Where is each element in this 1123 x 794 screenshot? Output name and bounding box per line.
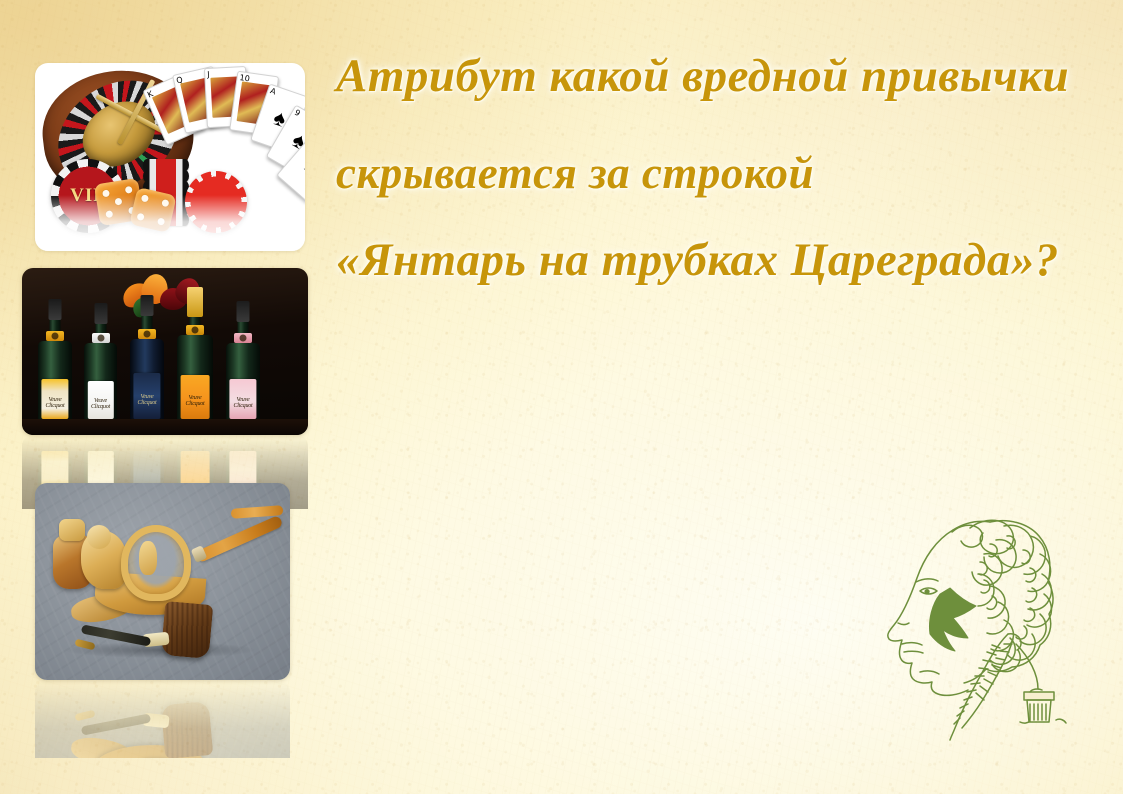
gambling-photo-frame: K♠ Q♠ J♠ 10♠ A♠ 9♠ 8♠ VIP bbox=[35, 63, 305, 251]
bottle-brand: Veuve Clicquot bbox=[181, 395, 210, 407]
pipe-photo-reflection bbox=[35, 680, 290, 758]
carved-cherub bbox=[139, 541, 157, 575]
bottle-brand: Veuve Clicquot bbox=[133, 394, 160, 406]
bottle-label: Veuve Clicquot bbox=[133, 373, 160, 419]
casino-scene: K♠ Q♠ J♠ 10♠ A♠ 9♠ 8♠ VIP bbox=[35, 63, 305, 251]
bottle-label: Veuve Clicquot bbox=[87, 381, 113, 419]
card-rank: J bbox=[207, 71, 210, 79]
card-suit-pip: ♠ bbox=[300, 154, 305, 178]
image-gambling[interactable]: K♠ Q♠ J♠ 10♠ A♠ 9♠ 8♠ VIP bbox=[35, 63, 305, 251]
slide-canvas: K♠ Q♠ J♠ 10♠ A♠ 9♠ 8♠ VIP bbox=[0, 0, 1123, 794]
card-rank: 9 bbox=[293, 109, 301, 118]
bottle-label: Veuve Clicquot bbox=[181, 375, 210, 419]
champagne-bottle: Veuve Clicquot bbox=[130, 295, 164, 427]
image-champagne[interactable]: Veuve Clicquot Veuve Clicquot Veuve Clic… bbox=[22, 268, 308, 435]
carved-figure-head bbox=[87, 525, 111, 549]
question-line-2: скрывается за строкой bbox=[336, 150, 1096, 198]
question-text-block: Атрибут какой вредной привычки скрываетс… bbox=[336, 52, 1096, 285]
champagne-photo-frame: Veuve Clicquot Veuve Clicquot Veuve Clic… bbox=[22, 268, 308, 435]
casino-photo-gloss bbox=[35, 195, 305, 251]
carved-pipe-finial bbox=[59, 519, 85, 541]
question-line-1: Атрибут какой вредной привычки bbox=[336, 52, 1096, 102]
pushkin-profile-drawing bbox=[880, 492, 1080, 744]
pipe-photo-frame bbox=[35, 483, 290, 680]
champagne-bottle: Veuve Clicquot bbox=[226, 301, 260, 427]
bottle-brand: Veuve Clicquot bbox=[229, 397, 256, 409]
bottle-label: Veuve Clicquot bbox=[41, 379, 68, 419]
champagne-bottle: Veuve Clicquot bbox=[177, 287, 213, 427]
briar-pipe-bowl bbox=[161, 601, 214, 659]
champagne-bottle: Veuve Clicquot bbox=[38, 299, 72, 427]
bottle-label: Veuve Clicquot bbox=[229, 379, 256, 419]
bottle-brand: Veuve Clicquot bbox=[87, 398, 113, 410]
card-rank: A bbox=[269, 87, 277, 96]
question-line-3: «Янтарь на трубках Цареграда»? bbox=[336, 236, 1096, 286]
image-smoking-pipe[interactable] bbox=[35, 483, 290, 680]
table-surface bbox=[22, 419, 308, 435]
champagne-bottle: Veuve Clicquot bbox=[84, 303, 117, 427]
bottle-brand: Veuve Clicquot bbox=[41, 397, 68, 409]
